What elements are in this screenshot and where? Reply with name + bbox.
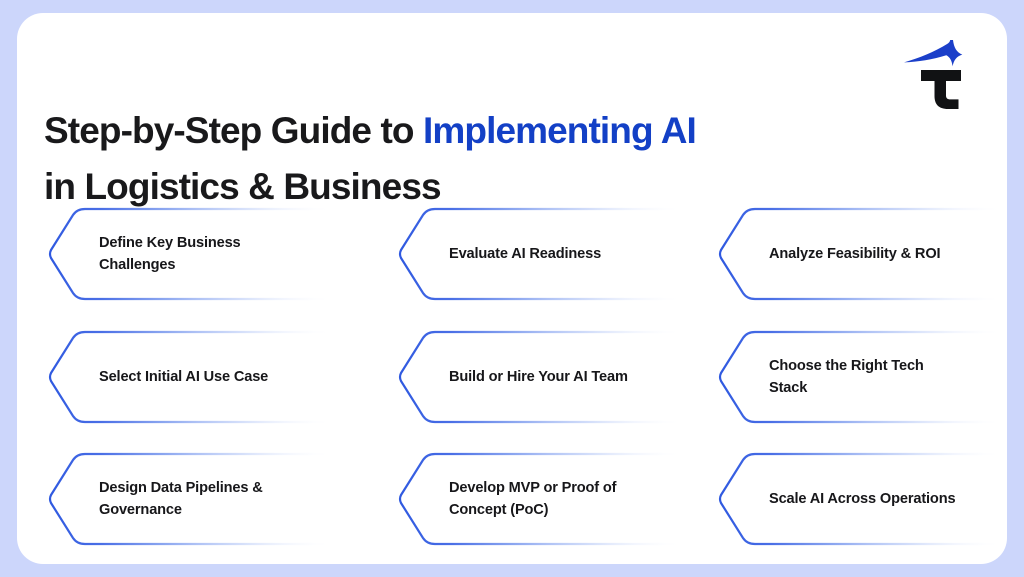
step-label: Scale AI Across Operations (769, 450, 984, 548)
step-label-line-1: Analyze Feasibility & ROI (769, 243, 940, 265)
step-label-line-1: Define Key Business (99, 232, 241, 254)
tau-star-logo (901, 38, 975, 110)
step-label: Develop MVP or Proof of Concept (PoC) (449, 450, 664, 548)
star-icon (904, 40, 962, 66)
step-label-line-1: Select Initial AI Use Case (99, 366, 268, 388)
step-card-4[interactable]: Select Initial AI Use Case (47, 328, 337, 426)
step-label-line-2: Governance (99, 499, 263, 521)
step-card-6[interactable]: Choose the Right Tech Stack (717, 328, 1007, 426)
step-card-7[interactable]: Design Data Pipelines & Governance (47, 450, 337, 548)
slide-card: Step-by-Step Guide to Implementing AI in… (17, 13, 1007, 564)
step-card-9[interactable]: Scale AI Across Operations (717, 450, 1007, 548)
step-label: Build or Hire Your AI Team (449, 328, 664, 426)
step-label: Design Data Pipelines & Governance (99, 450, 314, 548)
step-label-line-1: Build or Hire Your AI Team (449, 366, 628, 388)
step-label-line-2: Concept (PoC) (449, 499, 616, 521)
slide-header: Step-by-Step Guide to Implementing AI in… (17, 13, 1007, 183)
step-label: Evaluate AI Readiness (449, 205, 664, 303)
step-label: Analyze Feasibility & ROI (769, 205, 984, 303)
step-label-line-1: Develop MVP or Proof of (449, 477, 616, 499)
step-label-line-1: Evaluate AI Readiness (449, 243, 601, 265)
step-card-2[interactable]: Evaluate AI Readiness (397, 205, 687, 303)
step-label-line-2: Challenges (99, 254, 241, 276)
steps-grid: Define Key Business Challenges Evaluate … (17, 191, 1007, 551)
title-accent: Implementing AI (423, 110, 696, 151)
title-part-1: Step-by-Step Guide to (44, 110, 423, 151)
step-card-3[interactable]: Analyze Feasibility & ROI (717, 205, 1007, 303)
step-label-line-1: Scale AI Across Operations (769, 488, 955, 510)
step-label-line-1: Design Data Pipelines & (99, 477, 263, 499)
step-label: Select Initial AI Use Case (99, 328, 314, 426)
step-label-line-1: Choose the Right Tech (769, 355, 924, 377)
step-card-8[interactable]: Develop MVP or Proof of Concept (PoC) (397, 450, 687, 548)
slide-canvas: Step-by-Step Guide to Implementing AI in… (0, 0, 1024, 577)
step-card-5[interactable]: Build or Hire Your AI Team (397, 328, 687, 426)
step-label: Define Key Business Challenges (99, 205, 314, 303)
step-label: Choose the Right Tech Stack (769, 328, 984, 426)
step-label-line-2: Stack (769, 377, 924, 399)
step-card-1[interactable]: Define Key Business Challenges (47, 205, 337, 303)
